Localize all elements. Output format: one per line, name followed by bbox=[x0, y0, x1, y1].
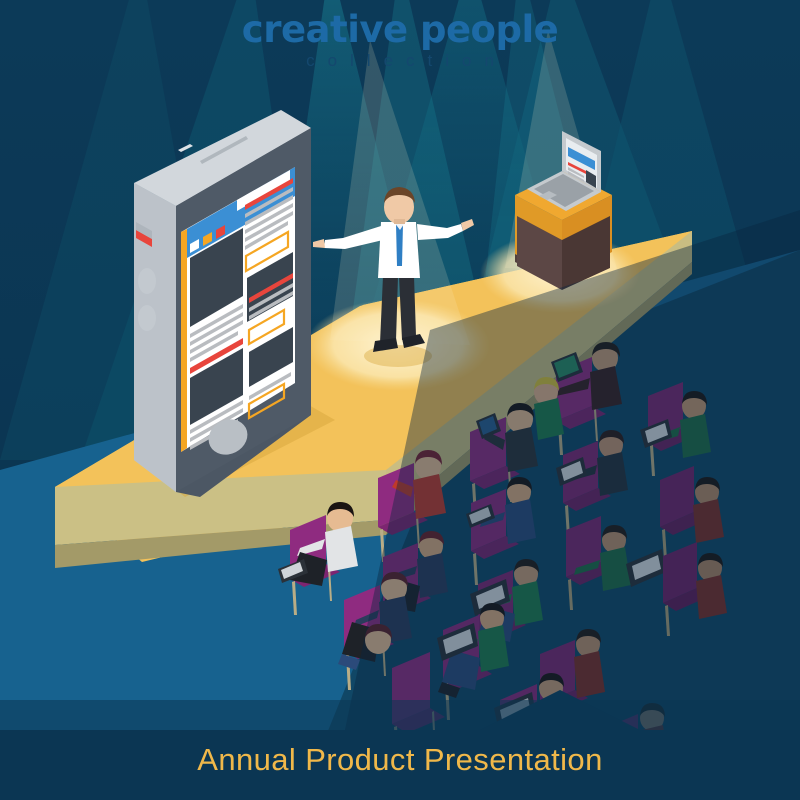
illustration-canvas: creative people collection Annual Produc… bbox=[0, 0, 800, 800]
scene-artwork bbox=[0, 0, 800, 800]
presenter-tie bbox=[396, 224, 403, 266]
presenter-leg-left bbox=[380, 276, 398, 343]
presenter-neck bbox=[394, 219, 405, 224]
bottom-band bbox=[0, 730, 800, 800]
phone-button-1 bbox=[138, 268, 156, 294]
phone-button-2 bbox=[138, 305, 156, 331]
screen-rail bbox=[181, 229, 187, 452]
